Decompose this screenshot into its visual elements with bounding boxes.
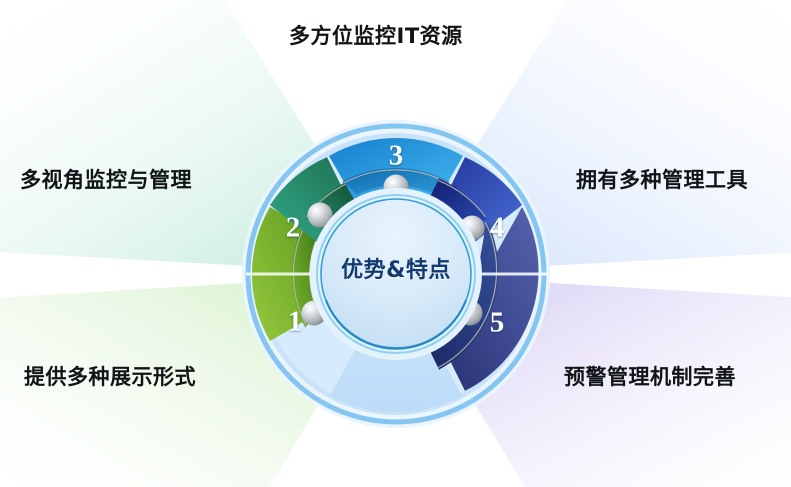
label-right-top: 拥有多种管理工具 <box>576 170 748 191</box>
label-top: 多方位监控IT资源 <box>289 26 463 47</box>
infographic-canvas: 1 2 3 4 5 优势&特点 多方位监控IT资源 多视角监控与管理 拥有多种管… <box>0 0 791 487</box>
center-label: 优势&特点 <box>341 260 451 282</box>
label-bottom-right: 预警管理机制完善 <box>564 367 736 388</box>
donut-ring <box>0 0 791 487</box>
label-bottom-left: 提供多种展示形式 <box>24 367 196 388</box>
label-left-top: 多视角监控与管理 <box>20 170 192 191</box>
